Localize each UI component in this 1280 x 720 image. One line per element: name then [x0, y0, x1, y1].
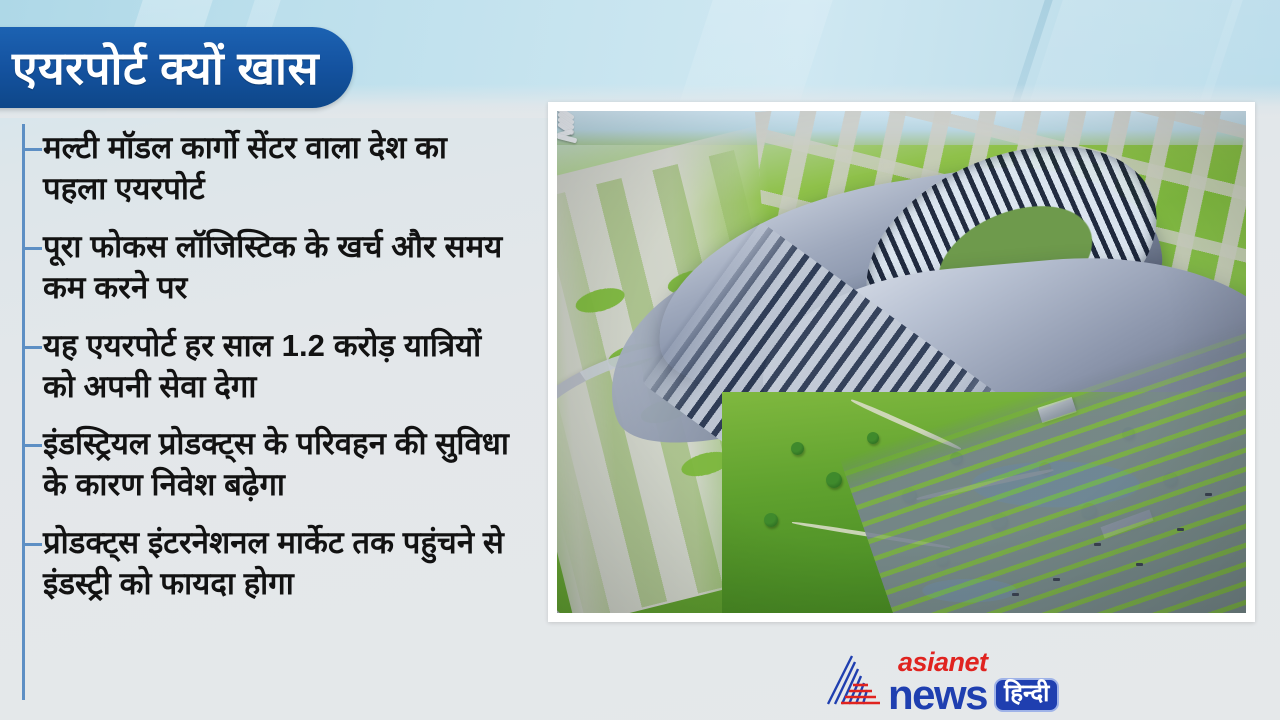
- list-item: इंडस्ट्रियल प्रोडक्ट्स के परिवहन की सुवि…: [0, 424, 525, 506]
- photo-car: [1177, 528, 1184, 531]
- bullet-dash-icon: [24, 247, 42, 250]
- list-item-text: प्रोडक्ट्स इंटरनेशनल मार्केट तक पहुंचने …: [43, 523, 519, 605]
- list-item: यह एयरपोर्ट हर साल 1.2 करोड़ यात्रियों क…: [0, 326, 525, 408]
- bullet-dash-icon: [24, 346, 42, 349]
- logo-language-badge: हिन्दी: [994, 678, 1059, 712]
- logo-news-text: news: [888, 677, 987, 713]
- photo-tree: [764, 513, 778, 527]
- photo-car: [1053, 578, 1060, 581]
- infographic-canvas: एयरपोर्ट क्यों खास मल्टी मॉडल कार्गो सें…: [0, 0, 1280, 720]
- bullet-dash-icon: [24, 148, 42, 151]
- bullet-dash-icon: [24, 444, 42, 447]
- bullet-column: मल्टी मॉडल कार्गो सेंटर वाला देश का पहला…: [0, 118, 525, 714]
- bullet-dash-icon: [24, 543, 42, 546]
- bullet-list: मल्टी मॉडल कार्गो सेंटर वाला देश का पहला…: [0, 118, 525, 714]
- headline-banner: एयरपोर्ट क्यों खास: [0, 27, 353, 108]
- asianet-triangle-logo-icon: [822, 652, 882, 710]
- photo-frame: [548, 102, 1255, 622]
- list-item: पूरा फोकस लॉजिस्टिक के खर्च और समय कम कर…: [0, 227, 525, 309]
- channel-logo: asianet news हिन्दी: [822, 648, 1059, 714]
- photo-car: [1205, 493, 1212, 496]
- list-item: मल्टी मॉडल कार्गो सेंटर वाला देश का पहला…: [0, 128, 525, 210]
- list-item-text: मल्टी मॉडल कार्गो सेंटर वाला देश का पहला…: [43, 128, 519, 210]
- photo-car: [1094, 543, 1101, 546]
- list-item-text: यह एयरपोर्ट हर साल 1.2 करोड़ यात्रियों क…: [43, 326, 519, 408]
- logo-bottom-row: news हिन्दी: [888, 677, 1059, 713]
- list-item-text: इंडस्ट्रियल प्रोडक्ट्स के परिवहन की सुवि…: [43, 424, 519, 506]
- airport-aerial-render-icon: [557, 111, 1246, 613]
- list-item-text: पूरा फोकस लॉजिस्टिक के खर्च और समय कम कर…: [43, 227, 519, 309]
- list-item: प्रोडक्ट्स इंटरनेशनल मार्केट तक पहुंचने …: [0, 523, 525, 605]
- page-title: एयरपोर्ट क्यों खास: [12, 45, 319, 91]
- logo-wordmark: asianet news हिन्दी: [888, 649, 1059, 713]
- logo-language-text: हिन्दी: [1004, 681, 1049, 707]
- photo-car: [1012, 593, 1019, 596]
- photo-car: [1136, 563, 1143, 566]
